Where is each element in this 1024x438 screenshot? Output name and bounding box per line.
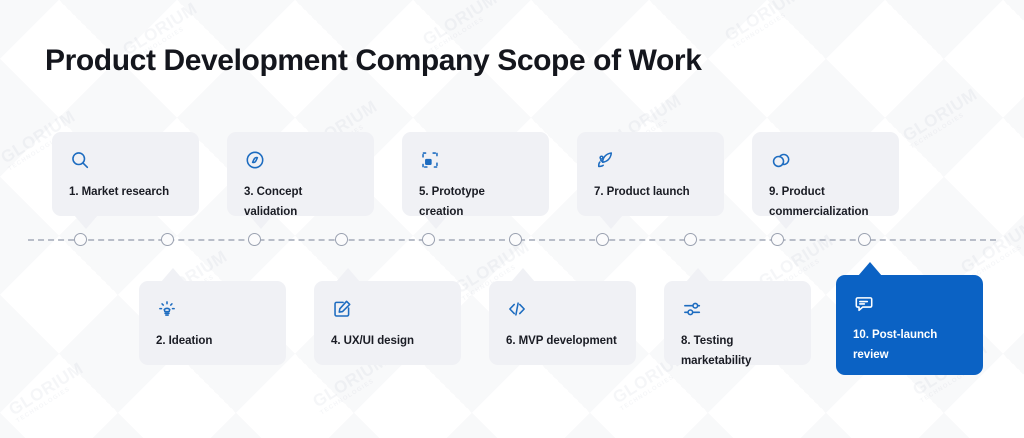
step-card-label: 4. UX/UI design — [331, 332, 444, 352]
sliders-icon — [681, 298, 794, 322]
step-card-7[interactable]: 7. Product launch — [577, 132, 724, 216]
step-card-2[interactable]: 2. Ideation — [139, 281, 286, 365]
step-card-3[interactable]: 3. Concept validation — [227, 132, 374, 216]
step-card-8[interactable]: 8. Testing marketability — [664, 281, 811, 365]
step-card-6[interactable]: 6. MVP development — [489, 281, 636, 365]
timeline-node-7[interactable] — [596, 233, 609, 246]
search-icon — [69, 149, 182, 173]
timeline-node-1[interactable] — [74, 233, 87, 246]
card-pointer-tail — [336, 268, 360, 282]
code-brackets-icon — [506, 298, 619, 322]
compass-icon — [244, 149, 357, 173]
card-pointer-tail — [249, 215, 273, 229]
step-card-10[interactable]: 10. Post-launch review — [836, 275, 983, 375]
card-pointer-tail — [774, 215, 798, 229]
timeline-node-6[interactable] — [509, 233, 522, 246]
page-title: Product Development Company Scope of Wor… — [45, 44, 701, 78]
step-card-label: 6. MVP development — [506, 332, 619, 352]
card-pointer-tail — [511, 268, 535, 282]
timeline-node-8[interactable] — [684, 233, 697, 246]
timeline-node-10[interactable] — [858, 233, 871, 246]
card-pointer-tail — [74, 215, 98, 229]
card-pointer-tail — [161, 268, 185, 282]
prototype-frame-icon — [419, 149, 532, 173]
step-card-label: 8. Testing marketability — [681, 332, 794, 372]
step-card-5[interactable]: 5. Prototype creation — [402, 132, 549, 216]
timeline — [28, 239, 996, 241]
edit-square-icon — [331, 298, 444, 322]
card-pointer-tail — [858, 262, 882, 276]
step-card-label: 7. Product launch — [594, 183, 707, 203]
infographic-root: Product Development Company Scope of Wor… — [0, 0, 1024, 438]
timeline-node-4[interactable] — [335, 233, 348, 246]
step-card-9[interactable]: 9. Product commercialization — [752, 132, 899, 216]
timeline-node-2[interactable] — [161, 233, 174, 246]
card-pointer-tail — [686, 268, 710, 282]
step-card-label: 2. Ideation — [156, 332, 269, 352]
rocket-icon — [594, 149, 707, 173]
step-card-label: 1. Market research — [69, 183, 182, 203]
lightbulb-icon — [156, 298, 269, 322]
step-card-4[interactable]: 4. UX/UI design — [314, 281, 461, 365]
timeline-node-5[interactable] — [422, 233, 435, 246]
step-card-1[interactable]: 1. Market research — [52, 132, 199, 216]
message-bubble-icon — [853, 292, 966, 316]
card-pointer-tail — [599, 215, 623, 229]
card-pointer-tail — [424, 215, 448, 229]
timeline-node-3[interactable] — [248, 233, 261, 246]
timeline-node-9[interactable] — [771, 233, 784, 246]
overlapping-rings-icon — [769, 149, 882, 173]
step-card-label: 10. Post-launch review — [853, 326, 966, 366]
